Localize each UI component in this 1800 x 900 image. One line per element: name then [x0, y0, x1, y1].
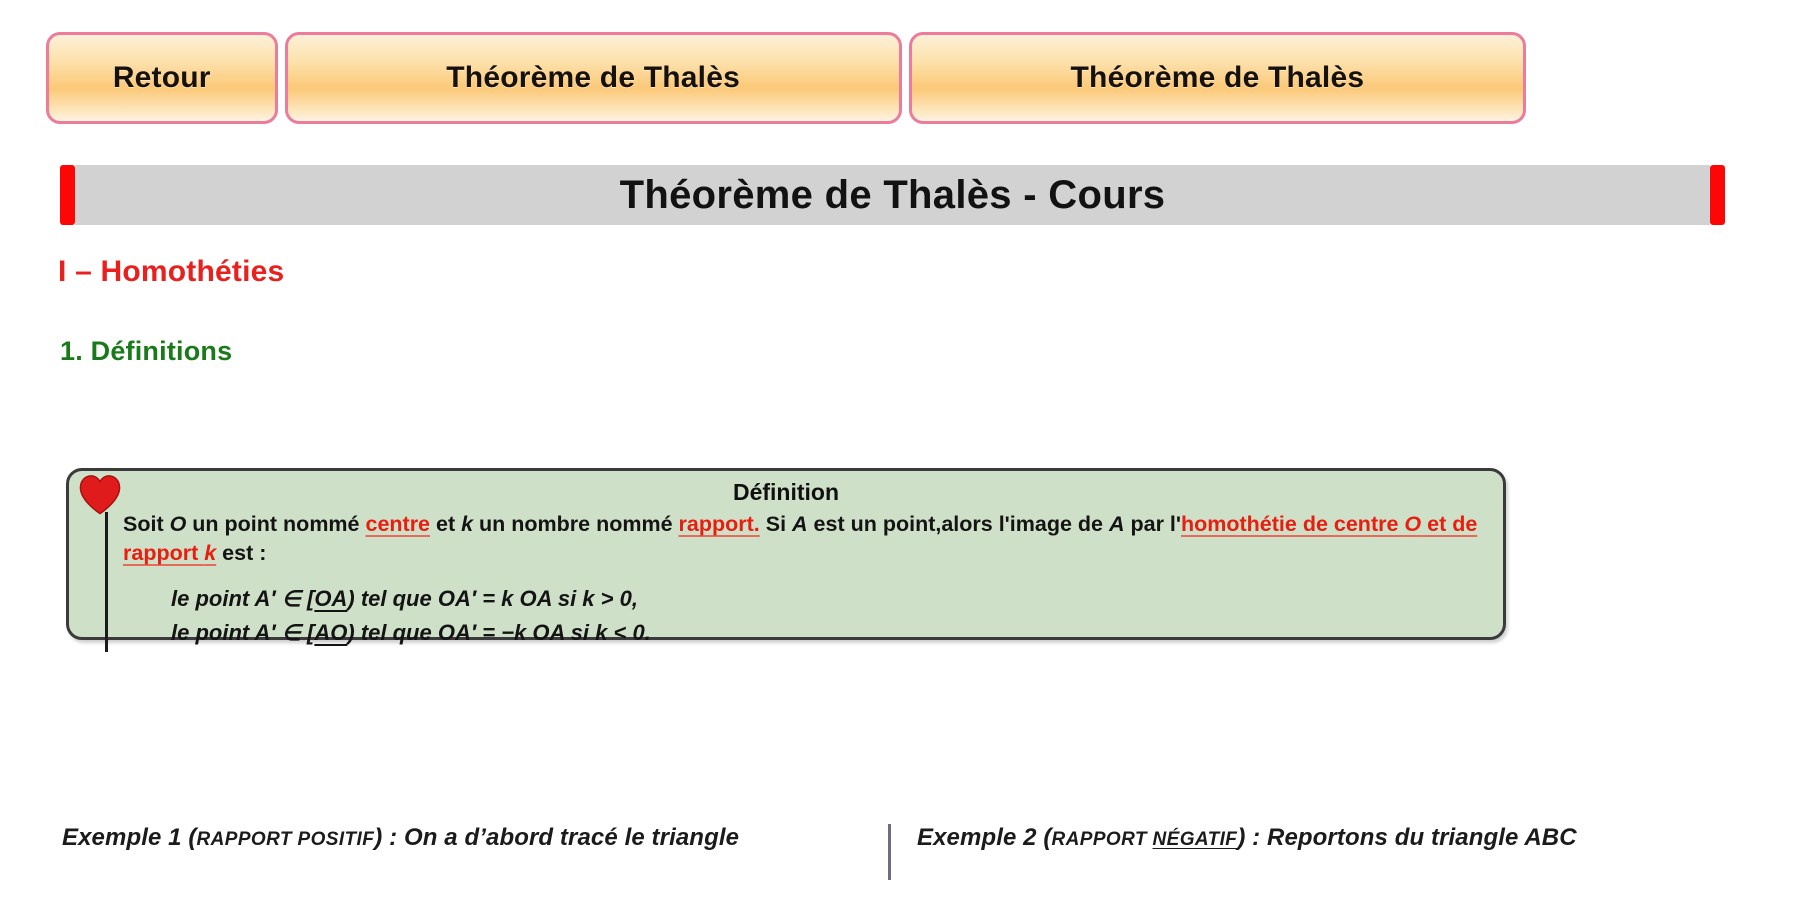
definition-title: Définition: [69, 471, 1503, 506]
example-1-lead: Exemple 1 (: [62, 824, 197, 851]
definition-box: Définition Soit O un point nommé centre …: [66, 468, 1506, 640]
def-term-centre: centre: [365, 512, 430, 536]
page-title: Théorème de Thalès - Cours: [620, 173, 1166, 218]
example-2-tail: ) : Reportons du triangle ABC: [1237, 824, 1576, 851]
tab-retour[interactable]: Retour: [46, 32, 278, 124]
def-var-A1: A: [792, 512, 808, 536]
definition-math-lines: le point A′ ∈ [OA) tel que OA′ = k OA si…: [123, 582, 1481, 650]
tab-bar: Retour Théorème de Thalès Théorème de Th…: [46, 32, 1526, 124]
def-t7: un nombre nommé: [473, 512, 678, 536]
def-t5: et: [430, 512, 461, 536]
example-1: Exemple 1 (RAPPORT POSITIF) : On a d’abo…: [62, 822, 888, 853]
tab-theoreme-right[interactable]: Théorème de Thalès: [909, 32, 1526, 124]
definition-body: Soit O un point nommé centre et k un nom…: [95, 510, 1481, 650]
definition-left-rule: [105, 512, 108, 652]
banner-body: Théorème de Thalès - Cours: [75, 165, 1710, 225]
def-var-k: k: [461, 512, 473, 536]
def-term-O: O: [1404, 512, 1421, 536]
banner-left-bar: [60, 165, 75, 225]
def-term-k: k: [204, 541, 216, 565]
def-t9: Si: [760, 512, 792, 536]
examples-row: Exemple 1 (RAPPORT POSITIF) : On a d’abo…: [62, 822, 1738, 880]
math-line-1: le point A′ ∈ [OA) tel que OA′ = k OA si…: [171, 582, 1481, 616]
math-line-2: le point A′ ∈ [AO) tel que OA′ = −k OA s…: [171, 616, 1481, 650]
heart-icon: [77, 473, 123, 515]
def-term-rapport: rapport.: [679, 512, 760, 536]
math-line-2-suffix: ) tel que OA′ = −k OA si k < 0.: [347, 620, 650, 645]
math-line-1-suffix: ) tel que OA′ = k OA si k > 0,: [347, 586, 638, 611]
def-t18: est :: [216, 541, 266, 565]
tab-theoreme-right-label: Théorème de Thalès: [1071, 61, 1365, 95]
def-var-A2: A: [1109, 512, 1125, 536]
example-2-smallcaps-underlined: NÉGATIF: [1153, 829, 1238, 850]
example-2-lead: Exemple 2 (: [917, 824, 1052, 851]
example-2: Exemple 2 (RAPPORT NÉGATIF) : Reportons …: [891, 822, 1717, 853]
tab-retour-label: Retour: [113, 61, 211, 95]
example-2-smallcaps: RAPPORT: [1052, 829, 1153, 850]
banner-right-bar: [1710, 165, 1725, 225]
tab-theoreme-center[interactable]: Théorème de Thalès: [285, 32, 902, 124]
subsection-heading: 1. Définitions: [60, 336, 232, 367]
math-line-2-prefix: le point A′ ∈ [: [171, 620, 314, 645]
section-heading: I – Homothéties: [58, 255, 284, 289]
def-term-homothetie: homothétie de centre: [1181, 512, 1404, 536]
example-1-smallcaps: RAPPORT POSITIF: [197, 829, 375, 850]
math-line-1-prefix: le point A′ ∈ [: [171, 586, 314, 611]
def-var-O: O: [170, 512, 187, 536]
def-t3: un point nommé: [186, 512, 365, 536]
math-line-1-underlined: OA: [314, 586, 347, 611]
page-title-banner: Théorème de Thalès - Cours: [60, 165, 1725, 225]
tab-theoreme-center-label: Théorème de Thalès: [446, 61, 740, 95]
math-line-2-underlined: AO: [314, 620, 347, 645]
def-t13: par l': [1125, 512, 1182, 536]
example-1-tail: ) : On a d’abord tracé le triangle: [374, 824, 739, 851]
def-t1: Soit: [123, 512, 170, 536]
def-t11: est un point,alors l'image de: [808, 512, 1109, 536]
